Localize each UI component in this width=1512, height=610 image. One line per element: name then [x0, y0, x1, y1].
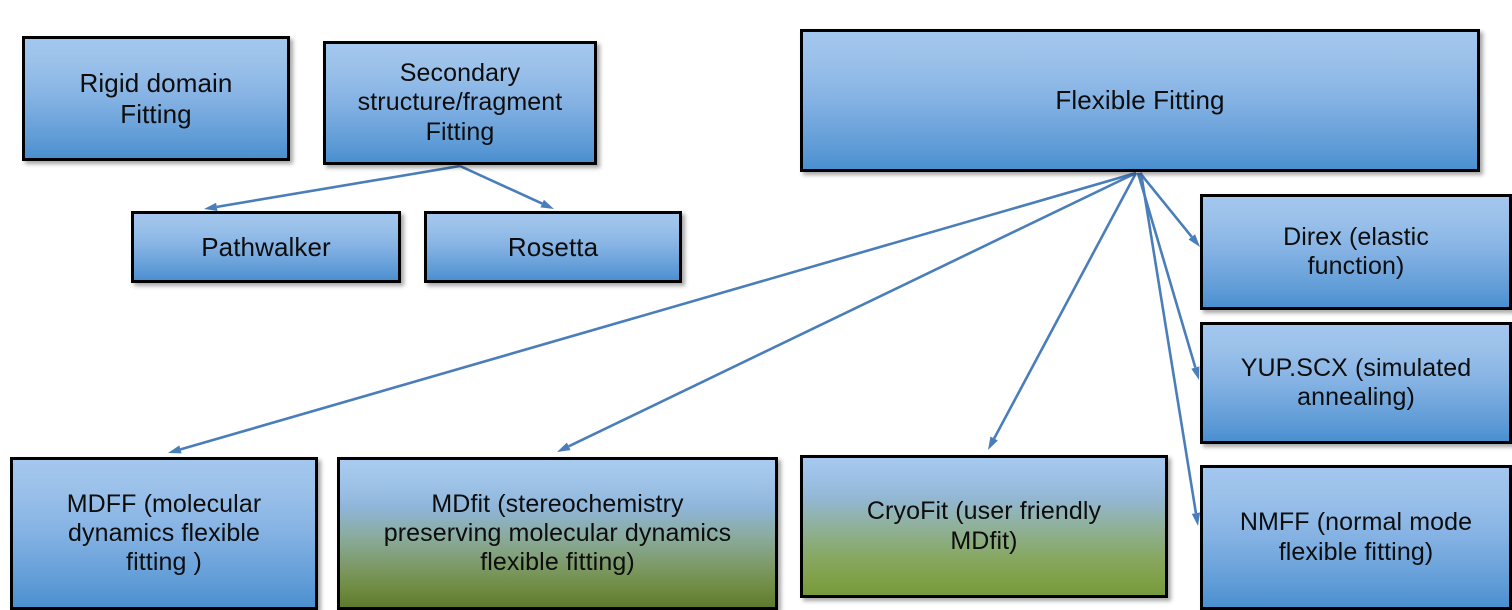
edge-flexible-to-direx — [1140, 173, 1200, 247]
node-mdff[interactable]: MDFF (molecular dynamics flexible fittin… — [10, 457, 318, 610]
node-flexible-fitting[interactable]: Flexible Fitting — [800, 29, 1480, 172]
node-label-flexible-fitting: Flexible Fitting — [811, 85, 1469, 115]
node-label-pathwalker: Pathwalker — [142, 232, 390, 262]
node-label-rigid-domain-fitting: Rigid domain Fitting — [33, 68, 279, 129]
edge-flexible-to-cryofit — [988, 173, 1136, 450]
node-label-secondary-structure-fragment-fitting: Secondary structure/fragment Fitting — [334, 59, 586, 147]
node-mdfit[interactable]: MDfit (stereochemistry preserving molecu… — [337, 457, 778, 610]
node-rigid-domain-fitting[interactable]: Rigid domain Fitting — [22, 36, 290, 161]
node-label-rosetta: Rosetta — [435, 232, 671, 262]
diagram-canvas: Rigid domain FittingSecondary structure/… — [0, 0, 1512, 610]
node-pathwalker[interactable]: Pathwalker — [131, 211, 401, 283]
node-secondary-structure-fragment-fitting[interactable]: Secondary structure/fragment Fitting — [323, 41, 597, 165]
node-yup-scx[interactable]: YUP.SCX (simulated annealing) — [1200, 322, 1512, 444]
node-label-yup-scx: YUP.SCX (simulated annealing) — [1211, 354, 1501, 413]
node-nmff[interactable]: NMFF (normal mode flexible fitting) — [1200, 465, 1512, 610]
arrowhead-icon — [1191, 366, 1199, 380]
edge-line — [1140, 173, 1192, 237]
arrowhead-icon — [988, 437, 998, 450]
arrowhead-icon — [557, 443, 571, 452]
node-label-direx: Direx (elastic function) — [1211, 223, 1501, 282]
edge-secondary-to-rosetta — [460, 166, 554, 209]
edge-line — [994, 173, 1136, 439]
edge-line — [460, 166, 542, 204]
edge-secondary-to-pathwalker — [204, 166, 460, 211]
node-label-mdfit: MDfit (stereochemistry preserving molecu… — [348, 490, 767, 578]
node-label-mdff: MDFF (molecular dynamics flexible fittin… — [21, 490, 307, 578]
node-cryofit[interactable]: CryoFit (user friendly MDfit) — [800, 455, 1168, 598]
node-direx[interactable]: Direx (elastic function) — [1200, 194, 1512, 310]
arrowhead-icon — [168, 445, 182, 453]
arrowhead-icon — [204, 203, 218, 211]
arrowhead-icon — [540, 200, 554, 209]
edge-line — [1138, 173, 1195, 368]
node-label-nmff: NMFF (normal mode flexible fitting) — [1211, 508, 1501, 567]
node-label-cryofit: CryoFit (user friendly MDfit) — [811, 497, 1157, 556]
edge-line — [217, 166, 460, 207]
arrowhead-icon — [1189, 234, 1200, 247]
node-rosetta[interactable]: Rosetta — [424, 211, 682, 283]
arrowhead-icon — [1192, 512, 1200, 526]
edge-flexible-to-yupscx — [1138, 173, 1199, 380]
